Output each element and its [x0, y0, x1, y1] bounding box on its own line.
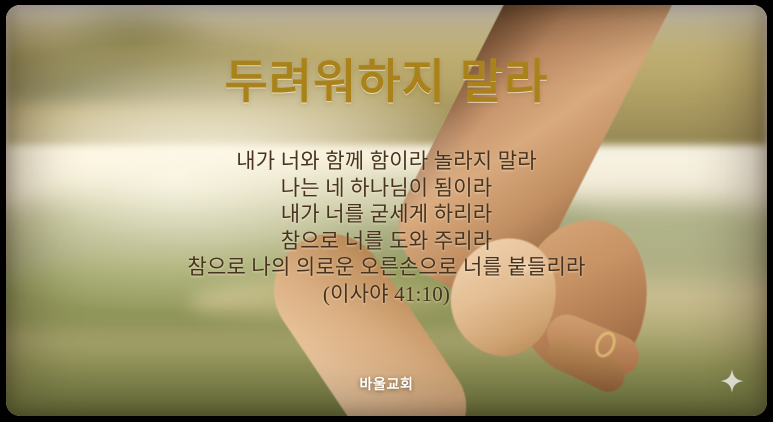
child-knuckle-highlight: [511, 257, 533, 275]
photo-stage: 두려워하지 말라 내가 너와 함께 함이라 놀라지 말라 나는 네 하나님이 됨…: [6, 5, 767, 416]
slide-frame: 두려워하지 말라 내가 너와 함께 함이라 놀라지 말라 나는 네 하나님이 됨…: [0, 0, 773, 422]
